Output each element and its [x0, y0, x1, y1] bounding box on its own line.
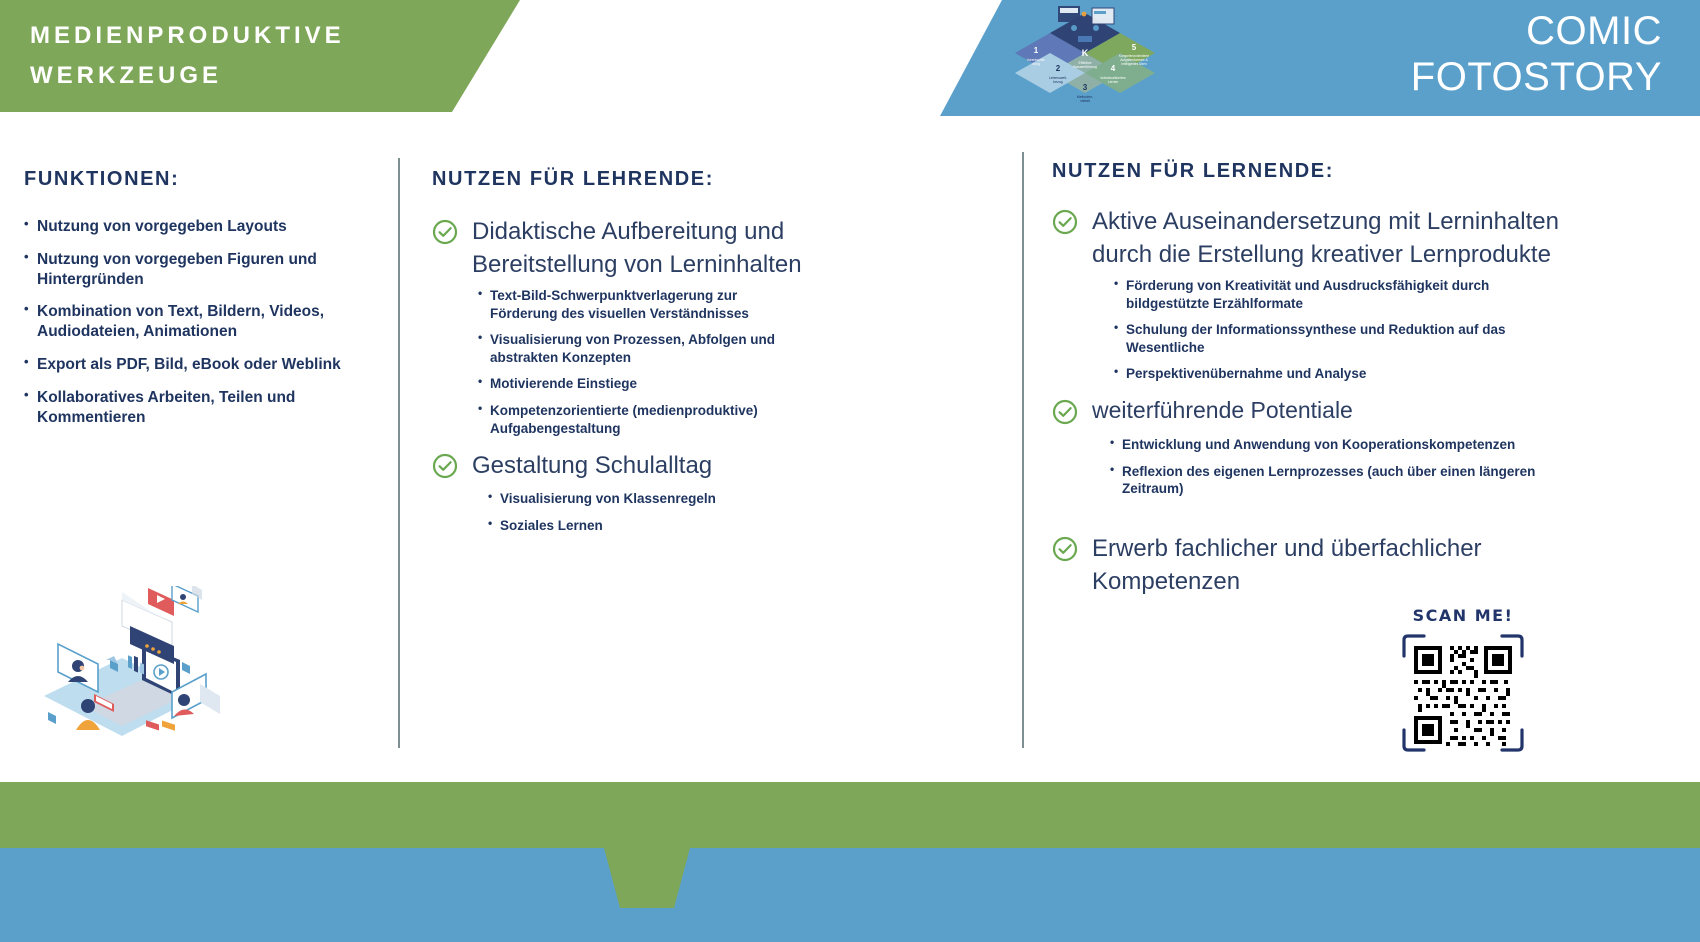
benefit-block: Erwerb fachlicher und überfachlicher Kom…: [1052, 532, 1572, 598]
online-learning-illustration: [22, 586, 222, 746]
list-item: Kollaboratives Arbeiten, Teilen und Komm…: [24, 388, 374, 428]
page-title: MEDIENPRODUKTIVE WERKZEUGE: [30, 16, 345, 95]
list-item: Reflexion des eigenen Lernprozesses (auc…: [1110, 463, 1560, 498]
benefits-teachers-column: NUTZEN FÜR LEHRENDE: Didaktische Aufbere…: [432, 168, 862, 546]
svg-text:5: 5: [1132, 43, 1137, 52]
column-divider-left: [398, 158, 400, 748]
benefit-sub-list: Förderung von Kreativität und Ausdrucksf…: [1114, 277, 1564, 383]
list-item: Kompetenzorientierte (medienproduktive) …: [478, 402, 798, 437]
list-item: Perspektivenübernahme und Analyse: [1114, 365, 1564, 383]
spacer: [1052, 510, 1572, 532]
qr-code-block: SCAN ME!: [1398, 606, 1528, 756]
svg-text:vielfalt: vielfalt: [1080, 99, 1090, 103]
svg-text:dung: dung: [1032, 62, 1040, 66]
list-item: Soziales Lernen: [488, 517, 808, 535]
benefit-title: weiterführende Potentiale: [1092, 395, 1353, 427]
list-item: Kombination von Text, Bildern, Videos, A…: [24, 302, 374, 342]
list-item: Nutzung von vorgegeben Figuren und Hinte…: [24, 250, 374, 290]
list-item: Export als PDF, Bild, eBook oder Weblink: [24, 355, 374, 375]
qr-code-image[interactable]: [1400, 630, 1526, 756]
check-circle-icon: [1052, 209, 1078, 240]
benefits-learners-column: NUTZEN FÜR LERNENDE: Aktive Auseinanders…: [1052, 160, 1572, 600]
page-header: MEDIENPRODUKTIVE WERKZEUGE COMIC FOTOSTO…: [0, 0, 1700, 128]
list-item: Förderung von Kreativität und Ausdrucksf…: [1114, 277, 1564, 312]
svg-text:1: 1: [1034, 46, 1039, 55]
check-circle-icon: [432, 219, 458, 250]
list-item: Entwicklung und Anwendung von Kooperatio…: [1110, 436, 1560, 454]
svg-text:3: 3: [1083, 83, 1088, 92]
benefit-title: Gestaltung Schulalltag: [472, 449, 712, 482]
poster-page: MEDIENPRODUKTIVE WERKZEUGE COMIC FOTOSTO…: [0, 0, 1700, 942]
benefit-block: Didaktische Aufbereitung und Bereitstell…: [432, 215, 862, 281]
svg-text:Klassenführung: Klassenführung: [1073, 65, 1097, 69]
svg-text:4: 4: [1111, 64, 1116, 73]
benefit-block: Aktive Auseinandersetzung mit Lerninhalt…: [1052, 205, 1572, 271]
functions-column: FUNKTIONEN: Nutzung von vorgegeben Layou…: [24, 168, 374, 441]
list-item: Nutzung von vorgegeben Layouts: [24, 217, 374, 237]
check-circle-icon: [432, 453, 458, 484]
benefit-title: Didaktische Aufbereitung und Bereitstell…: [472, 215, 862, 281]
functions-heading: FUNKTIONEN:: [24, 168, 374, 191]
svg-text:K: K: [1082, 48, 1089, 58]
kompetenzmodell-diamond-logo: 1 Vorentschei- dung 2 Lebenswelt- bezug …: [1000, 0, 1170, 116]
list-item: Visualisierung von Klassenregeln: [488, 490, 808, 508]
benefit-block: Gestaltung Schulalltag: [432, 449, 862, 484]
benefit-sub-list: Entwicklung und Anwendung von Kooperatio…: [1110, 436, 1560, 498]
list-item: Schulung der Informationssynthese und Re…: [1114, 321, 1564, 356]
svg-text:Lernen: Lernen: [1108, 80, 1119, 84]
benefits-teachers-heading: NUTZEN FÜR LEHRENDE:: [432, 168, 862, 191]
list-item: Motivierende Einstiege: [478, 375, 798, 393]
functions-list: Nutzung von vorgegeben Layouts Nutzung v…: [24, 217, 374, 428]
benefits-learners-heading: NUTZEN FÜR LERNENDE:: [1052, 160, 1572, 183]
scan-me-label: SCAN ME!: [1398, 606, 1528, 625]
svg-text:intelligentes Üben: intelligentes Üben: [1121, 62, 1147, 66]
benefit-block: weiterführende Potentiale: [1052, 395, 1572, 430]
check-circle-icon: [1052, 536, 1078, 567]
footer-green-bar: [0, 782, 1700, 848]
tool-type-title: COMIC FOTOSTORY: [1411, 8, 1662, 100]
svg-text:bezug: bezug: [1053, 80, 1062, 84]
footer-blue-bar: [0, 848, 1700, 942]
column-divider-right: [1022, 152, 1024, 748]
list-item: Visualisierung von Prozessen, Abfolgen u…: [478, 331, 798, 366]
benefit-title: Erwerb fachlicher und überfachlicher Kom…: [1092, 532, 1572, 598]
svg-text:2: 2: [1056, 64, 1061, 73]
benefit-sub-list: Visualisierung von Klassenregeln Soziale…: [488, 490, 808, 534]
benefit-title: Aktive Auseinandersetzung mit Lerninhalt…: [1092, 205, 1572, 271]
check-circle-icon: [1052, 399, 1078, 430]
list-item: Text-Bild-Schwerpunktverlagerung zur För…: [478, 287, 798, 322]
benefit-sub-list: Text-Bild-Schwerpunktverlagerung zur För…: [478, 287, 798, 437]
